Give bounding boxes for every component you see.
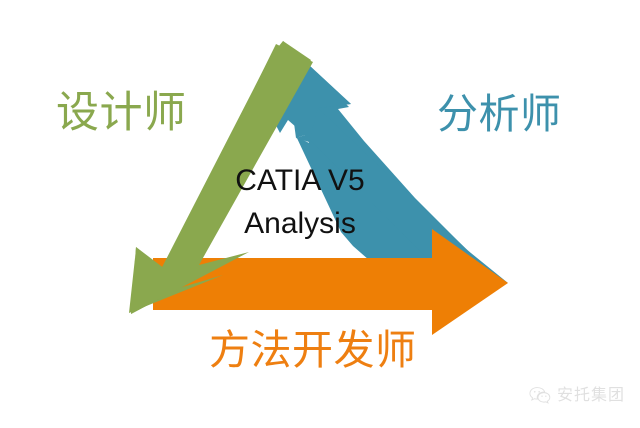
label-method-developer: 方法开发师 <box>209 330 417 371</box>
wechat-icon <box>529 386 551 405</box>
center-title-line-2: Analysis <box>195 203 405 246</box>
center-title-line-1: CATIA V5 <box>195 160 405 203</box>
center-title: CATIA V5 Analysis <box>195 160 405 245</box>
label-designer: 设计师 <box>56 92 187 135</box>
watermark: 安托集团 <box>529 386 625 405</box>
diagram-canvas: 设计师 分析师 方法开发师 CATIA V5 Analysis 安托集团 <box>0 0 640 428</box>
watermark-text: 安托集团 <box>557 388 625 404</box>
label-analyst: 分析师 <box>437 94 562 135</box>
